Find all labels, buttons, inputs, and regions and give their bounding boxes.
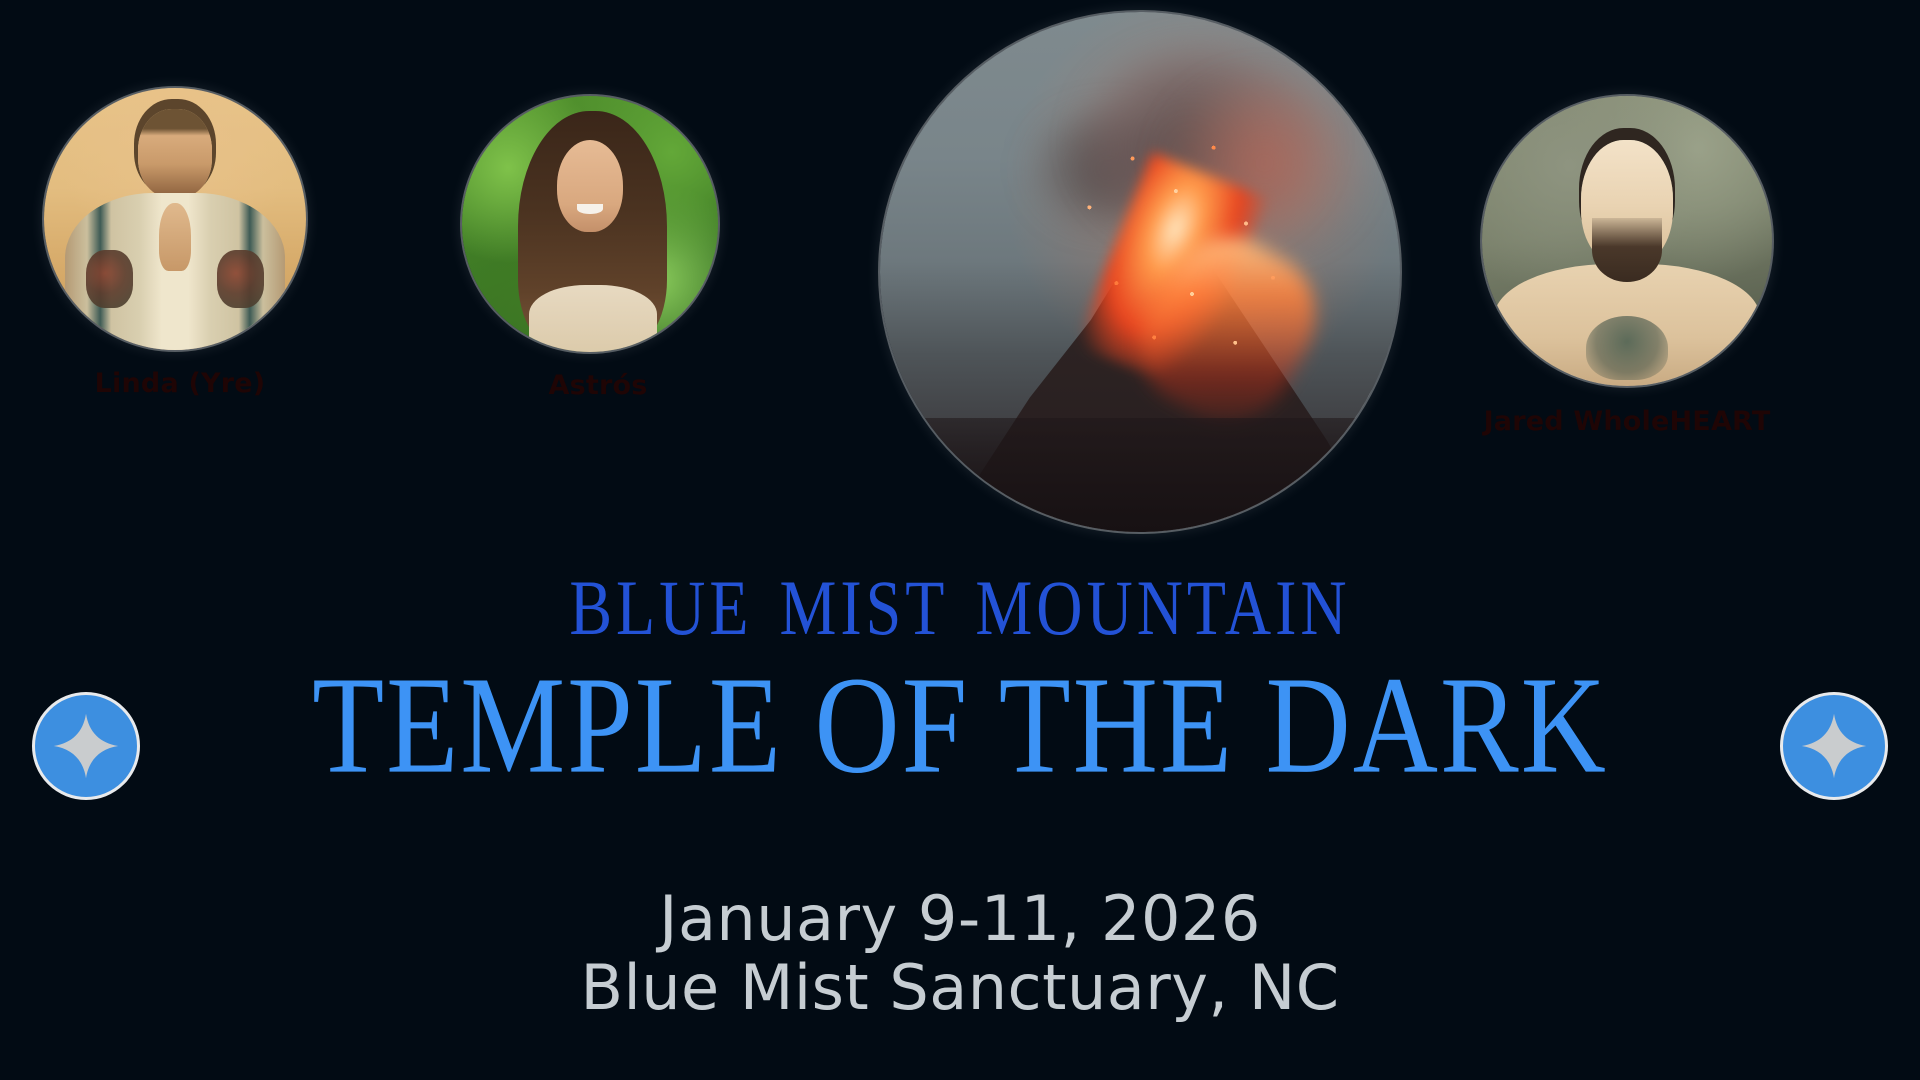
volcano-image: [880, 12, 1400, 532]
presenter-photo-linda: [44, 88, 306, 350]
portrait-image: [44, 88, 306, 350]
presenter-name-linda: Linda (Yre): [44, 368, 316, 399]
smile: [577, 204, 603, 214]
torso: [529, 285, 657, 352]
headline-block: Blue Mist Mountain TEMPLE OF THE DARK: [0, 540, 1920, 774]
foreground-ridge: [880, 418, 1400, 532]
prayer-hands: [159, 203, 190, 271]
promo-flyer: Linda (Yre) Astrós: [0, 0, 1920, 1080]
portrait-image: [1482, 96, 1772, 386]
presenter-photo-jared: [1482, 96, 1772, 386]
presenter-card-astros[interactable]: Astrós: [462, 96, 734, 401]
chest-tattoo: [1586, 316, 1667, 380]
event-title-secondary: TEMPLE OF THE DARK: [0, 656, 1920, 795]
event-location: Blue Mist Sanctuary, NC: [0, 953, 1920, 1022]
presenter-card-jared[interactable]: Jared WholeHEART: [1482, 96, 1772, 437]
presenter-photo-astros: [462, 96, 718, 352]
event-details: January 9-11, 2026 Blue Mist Sanctuary, …: [0, 884, 1920, 1023]
presenter-row: Linda (Yre) Astrós: [0, 0, 1920, 560]
tattoo-right: [217, 250, 264, 308]
portrait-image: [462, 96, 718, 352]
presenter-card-linda[interactable]: Linda (Yre): [44, 88, 316, 399]
beard: [1592, 218, 1662, 282]
sparkle-icon-left: [32, 692, 140, 800]
volcano-photo: [880, 12, 1400, 532]
ember-sparks: [1057, 126, 1327, 396]
event-title-primary: Blue Mist Mountain: [0, 540, 1920, 652]
tattoo-left: [86, 250, 133, 308]
sparkle-icon-right: [1780, 692, 1888, 800]
presenter-name-astros: Astrós: [462, 370, 734, 401]
presenter-name-jared: Jared WholeHEART: [1482, 406, 1772, 437]
event-date: January 9-11, 2026: [0, 884, 1920, 953]
volcano-card: [880, 12, 1400, 532]
